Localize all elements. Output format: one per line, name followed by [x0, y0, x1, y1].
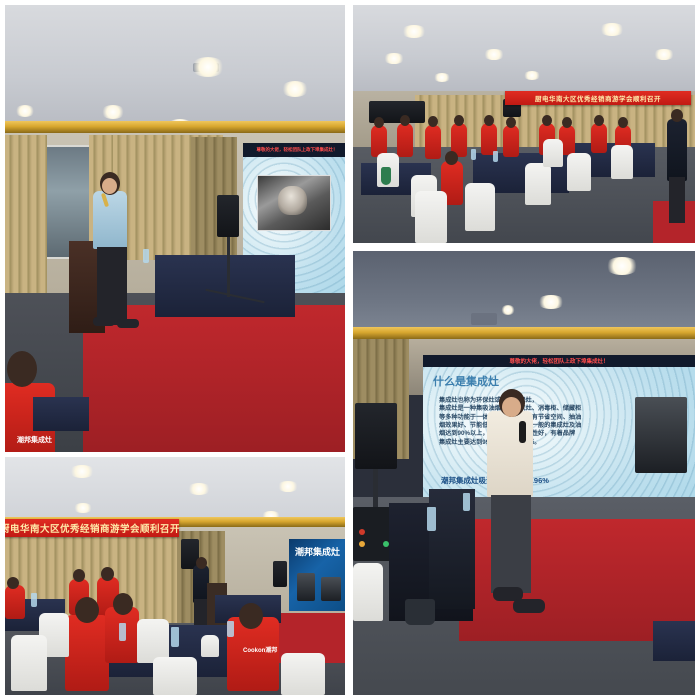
ceiling-downlight: [401, 25, 427, 38]
status-indicator: [359, 541, 365, 547]
thermos: [381, 167, 391, 185]
slide-portrait-photo: [257, 175, 331, 231]
led-display-title: 潮邦集成灶: [295, 545, 340, 558]
banquet-chair: [543, 139, 563, 167]
water-bottle: [119, 623, 126, 641]
ceiling-downlight: [433, 73, 451, 82]
ceiling-downlight: [523, 71, 541, 80]
audience-head: [400, 115, 410, 126]
conference-table: [155, 255, 295, 317]
presenter-shoe: [117, 319, 139, 328]
standing-attendee: [667, 119, 687, 181]
ceiling-downlight: [101, 105, 125, 119]
presenter-head: [196, 557, 207, 569]
audience-head: [484, 115, 494, 126]
presenter-face: [502, 397, 521, 417]
audience-head: [562, 117, 572, 128]
water-bottle: [227, 621, 234, 637]
presenter-torso: [487, 411, 533, 497]
collage-panel-top-right: 厨电华南大区优秀经销商游学会顺利召开: [353, 5, 695, 243]
ceiling-downlight: [277, 481, 299, 492]
audience-head: [445, 151, 458, 165]
audience-head: [594, 115, 604, 126]
presenter-face: [102, 178, 117, 194]
water-bottle: [143, 249, 149, 263]
cove-lighting: [353, 327, 695, 339]
banquet-chair: [201, 635, 219, 657]
audience-head: [542, 115, 552, 126]
ceiling-downlight: [15, 105, 35, 117]
banquet-chair: [525, 163, 551, 205]
photo-collage: 尊敬的大佬，轻松团队上政下埠集成灶！: [0, 0, 700, 700]
audience-member: [5, 585, 25, 619]
product-image: [321, 577, 341, 601]
vest-logo-text: Cookon潮邦: [243, 645, 277, 654]
ceiling-downlight: [69, 465, 95, 478]
event-banner: 厨电华南大区优秀经销商游学会顺利召开: [5, 519, 179, 537]
ceiling-downlight: [191, 57, 225, 77]
slide-header-text: 尊敬的大佬，轻松团队上政下埠集成灶！: [257, 147, 338, 153]
slide-header-bar: 尊敬的大佬，轻松团队上政下埠集成灶！: [243, 143, 345, 157]
audience-member: [591, 123, 607, 153]
event-banner-text: 厨电华南大区优秀经销商游学会顺利召开: [5, 521, 180, 535]
status-indicator: [359, 529, 365, 535]
standing-attendee-legs: [669, 177, 685, 223]
banquet-chair: [415, 191, 447, 243]
audience-head: [73, 569, 85, 582]
audience-head: [7, 577, 19, 589]
pa-speaker: [217, 195, 239, 237]
ceiling-downlight: [605, 257, 639, 275]
scene-bottom-right: 尊敬的大佬，轻松团队上政下埠集成灶！ 什么是集成灶 集成灶也称为环保灶或集成环保…: [353, 251, 695, 695]
scene-top-left: 尊敬的大佬，轻松团队上政下埠集成灶！: [5, 5, 345, 452]
product-image: [635, 397, 687, 473]
presenter-shoe: [93, 317, 115, 326]
audience-member-foreground: [65, 615, 109, 691]
standing-attendee-head: [671, 109, 683, 122]
foreground-table: [33, 397, 89, 431]
presenter-legs: [97, 247, 127, 325]
audience-head: [75, 597, 99, 623]
audience-head: [506, 117, 516, 128]
vest-logo-text: 潮邦集成灶: [17, 435, 52, 445]
ceiling-downlight: [73, 503, 93, 513]
collage-panel-bottom-right: 尊敬的大佬，轻松团队上政下埠集成灶！ 什么是集成灶 集成灶也称为环保灶或集成环保…: [353, 251, 695, 695]
product-image: [297, 573, 315, 601]
pa-speaker: [355, 403, 397, 469]
audience-head: [428, 116, 438, 127]
presenter-torso: [93, 191, 127, 249]
ceiling-vent: [471, 313, 497, 325]
ceiling-downlight: [501, 305, 515, 315]
microphone: [519, 421, 526, 443]
led-display: 潮邦集成灶: [289, 539, 345, 611]
water-bottle: [171, 627, 179, 647]
pa-speaker: [273, 561, 287, 587]
water-bottle: [463, 493, 470, 511]
ceiling-downlight: [483, 49, 505, 60]
audience-member: [425, 125, 441, 159]
collage-panel-top-left: 尊敬的大佬，轻松团队上政下埠集成灶！: [5, 5, 345, 452]
banquet-chair: [11, 635, 47, 691]
chair: [353, 563, 383, 621]
slide-title: 什么是集成灶: [433, 373, 499, 389]
water-bottle: [493, 151, 498, 162]
audience-head: [454, 115, 464, 126]
speaker-stand: [227, 237, 230, 297]
audience-head: [618, 117, 628, 128]
scene-bottom-left: 厨电华南大区优秀经销商游学会顺利召开 潮邦集成灶: [5, 457, 345, 695]
ceiling-downlight: [537, 295, 565, 309]
ceiling-downlight: [187, 483, 211, 495]
foreground-audience-head: [7, 351, 37, 387]
water-bottle: [471, 149, 476, 160]
slide-header-text: 尊敬的大佬，轻松团队上政下埠集成灶！: [509, 357, 608, 365]
water-bottle: [427, 507, 436, 531]
audience-head: [374, 117, 384, 128]
slide-header-bar: 尊敬的大佬，轻松团队上政下埠集成灶！: [423, 355, 695, 367]
presenter-legs: [491, 495, 531, 593]
event-banner: 厨电华南大区优秀经销商游学会顺利召开: [505, 91, 691, 105]
presenter-shoe: [513, 599, 545, 613]
audience-member: [503, 125, 519, 157]
water-bottle: [31, 593, 37, 607]
ceiling-downlight: [599, 23, 625, 36]
banquet-chair: [281, 653, 325, 695]
banquet-chair: [465, 183, 495, 231]
audience-head: [101, 567, 114, 581]
ceiling-downlight: [281, 81, 309, 97]
audience-member: [397, 123, 413, 157]
cove-lighting: [5, 121, 345, 133]
banquet-chair: [153, 657, 197, 695]
ceiling-downlight: [383, 53, 405, 64]
audience-head: [239, 603, 263, 629]
collage-panel-bottom-left: 厨电华南大区优秀经销商游学会顺利召开 潮邦集成灶: [5, 457, 345, 695]
event-banner-text: 厨电华南大区优秀经销商游学会顺利召开: [535, 93, 661, 103]
audience-head: [113, 593, 133, 615]
ceiling: [5, 5, 345, 125]
banquet-chair: [611, 145, 633, 179]
waste-bin: [405, 599, 435, 625]
side-table: [653, 621, 695, 661]
banquet-chair: [567, 153, 591, 191]
scene-top-right: 厨电华南大区优秀经销商游学会顺利召开: [353, 5, 695, 243]
ceiling-downlight: [653, 49, 675, 60]
